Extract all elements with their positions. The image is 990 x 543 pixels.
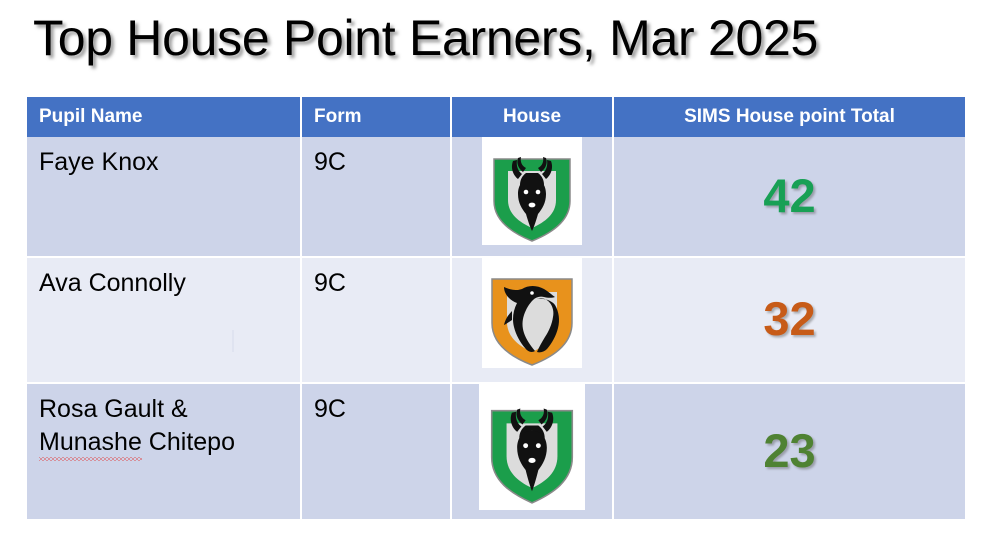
cell-sims-total: 32 xyxy=(613,257,965,383)
table-row: Faye Knox 9C xyxy=(27,137,965,257)
table-header-row: Pupil Name Form House SIMS House point T… xyxy=(27,97,965,137)
cell-house xyxy=(451,383,613,520)
cell-form: 9C xyxy=(301,257,451,383)
cell-form: 9C xyxy=(301,137,451,257)
cell-pupil-name: Ava Connolly xyxy=(27,257,301,383)
table-row: Rosa Gault & Munashe Chitepo 9C xyxy=(27,383,965,520)
table-row: Ava Connolly 9C xyxy=(27,257,965,383)
orange-hare-crest-icon xyxy=(482,258,582,368)
cell-pupil-name: Rosa Gault & Munashe Chitepo xyxy=(27,383,301,520)
pupil-name-line-2-rest: Chitepo xyxy=(142,428,235,456)
column-header-form[interactable]: Form xyxy=(301,97,451,137)
score-value: 42 xyxy=(763,172,815,219)
cell-sims-total: 42 xyxy=(613,137,965,257)
pupil-name-line-2-misspelled-word: Munashe xyxy=(39,426,142,459)
column-header-house[interactable]: House xyxy=(451,97,613,137)
text-cursor-artifact xyxy=(232,330,234,352)
house-points-table: Pupil Name Form House SIMS House point T… xyxy=(27,97,965,521)
column-header-sims-total[interactable]: SIMS House point Total xyxy=(613,97,965,137)
cell-pupil-name: Faye Knox xyxy=(27,137,301,257)
green-stag-crest-icon xyxy=(482,137,582,245)
page-title: Top House Point Earners, Mar 2025 xyxy=(33,10,818,68)
cell-sims-total: 23 xyxy=(613,383,965,520)
pupil-name-line-1: Rosa Gault & xyxy=(39,395,188,423)
cell-house xyxy=(451,257,613,383)
cell-house xyxy=(451,137,613,257)
column-header-pupil-name[interactable]: Pupil Name xyxy=(27,97,301,137)
cell-form: 9C xyxy=(301,383,451,520)
green-stag-crest-icon xyxy=(479,384,585,510)
score-value: 23 xyxy=(763,427,815,474)
score-value: 32 xyxy=(763,295,815,342)
